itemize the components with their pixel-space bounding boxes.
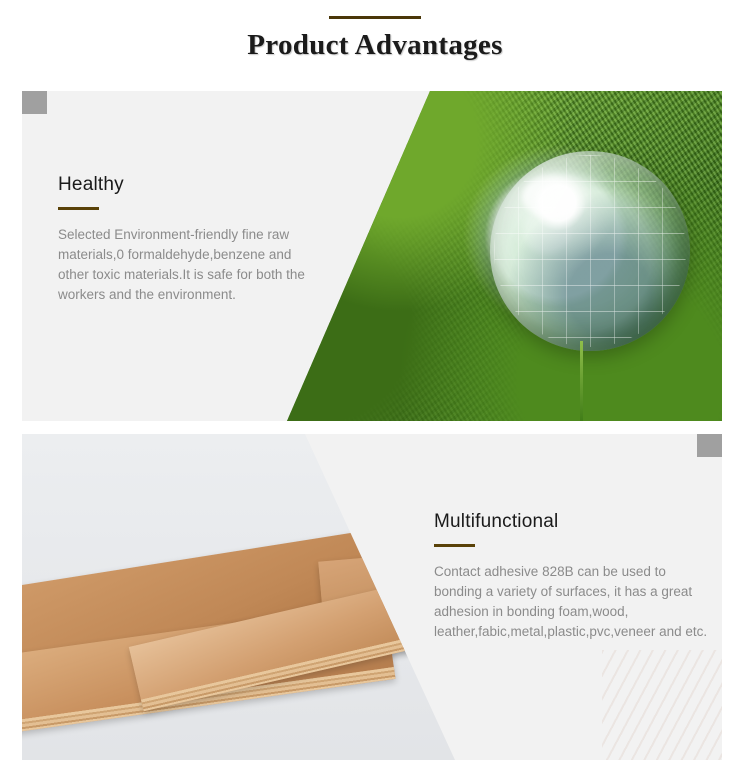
glass-globe-shape <box>490 151 690 351</box>
corner-accent-square <box>697 434 722 457</box>
plywood-boards-photo <box>22 434 492 760</box>
advantage-card-multifunctional: Multifunctional Contact adhesive 828B ca… <box>22 434 722 760</box>
card-title-underline <box>58 207 99 210</box>
plywood-edge-layers <box>141 625 465 711</box>
header-divider <box>329 16 421 19</box>
advantage-card-healthy: Healthy Selected Environment-friendly fi… <box>22 91 722 421</box>
page-header: Product Advantages <box>0 0 750 62</box>
card-title: Healthy <box>58 174 318 196</box>
card-title: Multifunctional <box>434 511 709 533</box>
page-title: Product Advantages <box>0 29 750 62</box>
background-watermark <box>602 650 722 760</box>
advantage-copy-healthy: Healthy Selected Environment-friendly fi… <box>58 174 318 305</box>
corner-accent-square <box>22 91 47 114</box>
card-description: Contact adhesive 828B can be used to bon… <box>434 562 709 642</box>
globe-moss-photo <box>262 91 722 421</box>
card-title-underline <box>434 544 475 547</box>
advantage-copy-multifunctional: Multifunctional Contact adhesive 828B ca… <box>434 511 709 642</box>
card-description: Selected Environment-friendly fine raw m… <box>58 225 318 305</box>
globe-stem-shape <box>580 341 583 421</box>
